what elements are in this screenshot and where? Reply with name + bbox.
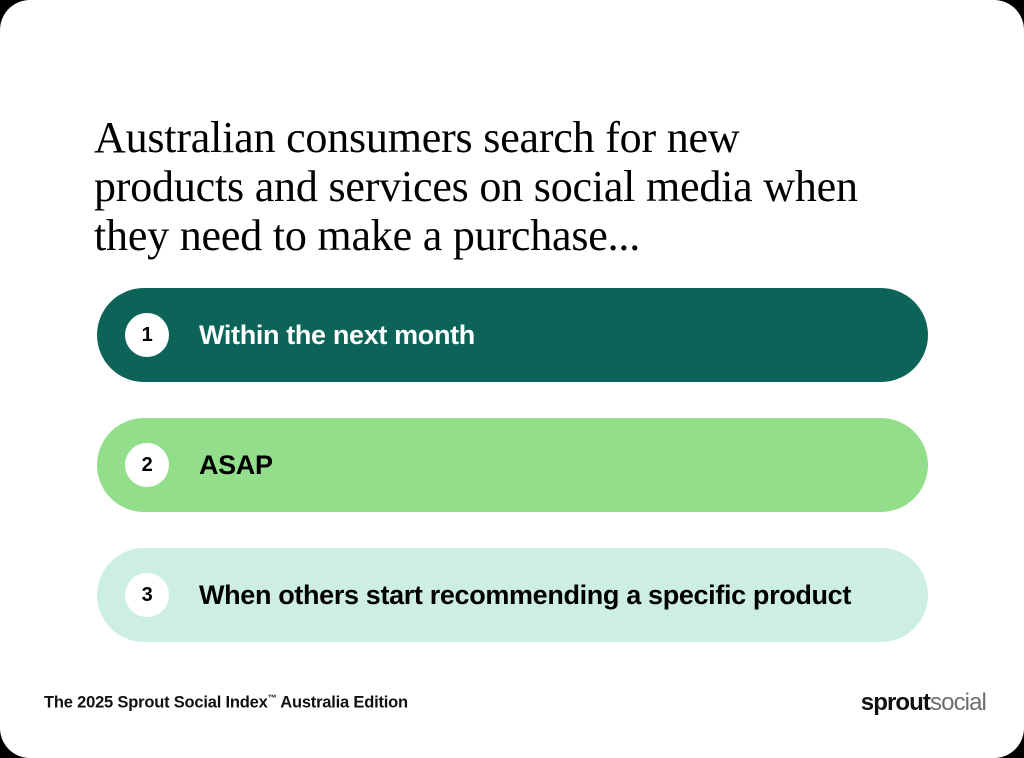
ranked-bar-label-1: Within the next month bbox=[199, 320, 475, 351]
ranked-bar-label-2: ASAP bbox=[199, 450, 273, 481]
ranked-bar-item-3: 3 When others start recommending a speci… bbox=[97, 548, 928, 642]
ranked-bar-item-1: 1 Within the next month bbox=[97, 288, 928, 382]
page-title: Australian consumers search for new prod… bbox=[94, 113, 884, 260]
source-suffix: Australia Edition bbox=[276, 694, 407, 712]
ranked-bar-list: 1 Within the next month 2 ASAP 3 When ot… bbox=[97, 288, 928, 642]
sprout-social-logo: sproutsocial bbox=[861, 691, 986, 715]
logo-word-text: social bbox=[930, 689, 986, 716]
rank-badge-2: 2 bbox=[125, 443, 169, 487]
logo-mark-text: sprout bbox=[861, 689, 930, 716]
ranked-bar-item-2: 2 ASAP bbox=[97, 418, 928, 512]
ranked-bar-label-3: When others start recommending a specifi… bbox=[199, 580, 851, 611]
source-attribution: The 2025 Sprout Social Index™ Australia … bbox=[44, 693, 408, 713]
rank-badge-1: 1 bbox=[125, 313, 169, 357]
source-prefix: The 2025 Sprout Social Index bbox=[44, 694, 268, 712]
footer: The 2025 Sprout Social Index™ Australia … bbox=[44, 688, 986, 718]
rank-badge-3: 3 bbox=[125, 573, 169, 617]
infographic-card: Australian consumers search for new prod… bbox=[0, 0, 1024, 758]
